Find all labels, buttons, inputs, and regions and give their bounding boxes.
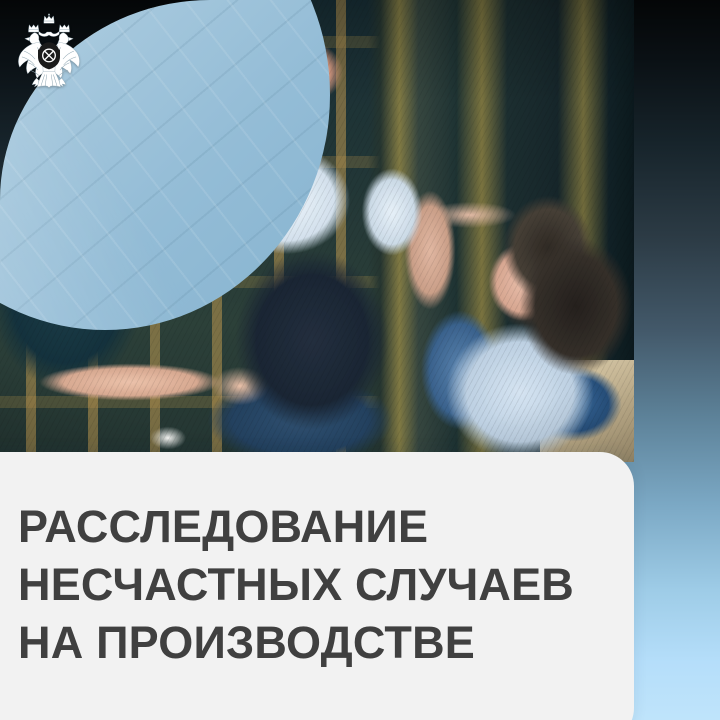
photo-scene (0, 0, 634, 462)
page-title: РАССЛЕДОВАНИЕ НЕСЧАСТНЫХ СЛУЧАЕВ НА ПРОИ… (18, 498, 618, 672)
russian-double-headed-eagle-emblem (12, 13, 86, 95)
caption-card: РАССЛЕДОВАНИЕ НЕСЧАСТНЫХ СЛУЧАЕВ НА ПРОИ… (0, 452, 634, 720)
social-card-canvas: РАССЛЕДОВАНИЕ НЕСЧАСТНЫХ СЛУЧАЕВ НА ПРОИ… (0, 0, 720, 720)
workplace-accident-photo (0, 0, 634, 462)
